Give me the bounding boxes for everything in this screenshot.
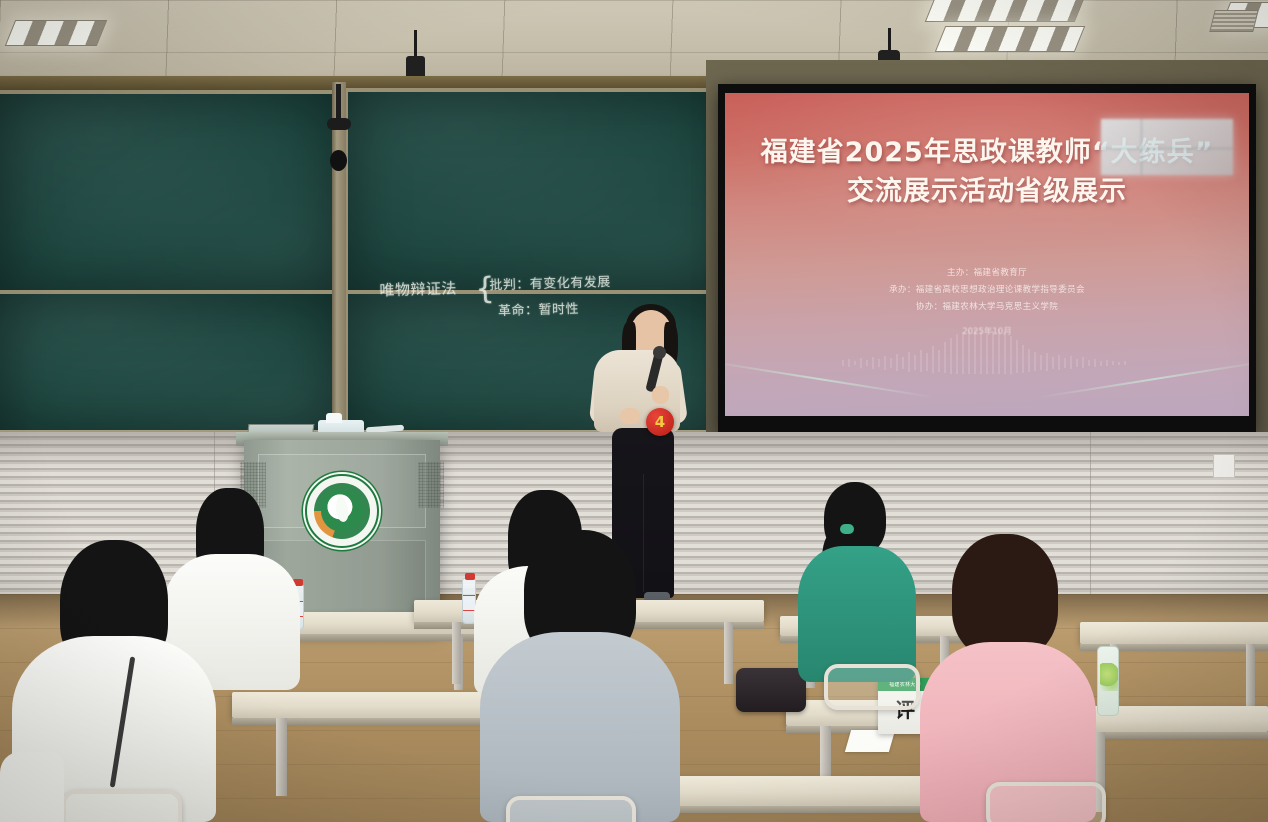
classroom-scene: 唯物辩证法 { 批判：有变化有发展 革命：暂时性 福建省2025年思政课教师“大… bbox=[0, 0, 1268, 822]
blackboard-panel-lower-left bbox=[0, 290, 340, 440]
person-hoodie bbox=[480, 632, 680, 822]
chalk-headline: 唯物辩证法 bbox=[379, 277, 457, 302]
university-emblem-icon bbox=[305, 474, 379, 548]
slide-credit-organizer: 主办：福建省教育厅 bbox=[725, 265, 1249, 282]
microphone-head bbox=[653, 346, 666, 359]
desk-row1-far-right bbox=[1080, 622, 1268, 644]
presenter-right-hand bbox=[652, 386, 669, 404]
chair[interactable] bbox=[62, 790, 182, 822]
hair-tie bbox=[840, 524, 854, 534]
chalk-note-1: 批判：有变化有发展 bbox=[489, 273, 611, 296]
presenter-number-badge: 4 bbox=[646, 408, 674, 436]
person-shirt bbox=[798, 546, 916, 682]
blackboard-panel-upper-right bbox=[344, 88, 728, 294]
blackboard-panel-upper-left bbox=[0, 90, 340, 294]
projection-screen-frame: 福建省2025年思政课教师“大练兵” 交流展示活动省级展示 主办：福建省教育厅 … bbox=[718, 84, 1256, 432]
speaker-grille-right bbox=[418, 462, 444, 508]
audience-student-edge bbox=[0, 752, 64, 822]
screen-window-reflection bbox=[1101, 119, 1233, 175]
desk-leg bbox=[724, 622, 733, 684]
chair[interactable] bbox=[986, 782, 1106, 822]
desk-leg bbox=[276, 718, 287, 796]
chalk-note-2: 革命：暂时性 bbox=[498, 300, 580, 322]
blackboard-writing: 唯物辩证法 { 批判：有变化有发展 革命：暂时性 bbox=[379, 273, 627, 346]
wall-seam bbox=[1090, 432, 1091, 620]
ceiling-light-fixture bbox=[5, 20, 108, 46]
ceiling-air-vent bbox=[1209, 10, 1258, 32]
light-switch[interactable] bbox=[1213, 454, 1235, 478]
chair[interactable] bbox=[824, 664, 920, 710]
slide-title-line-2: 交流展示活动省级展示 bbox=[725, 172, 1249, 211]
blackboard-center-divider bbox=[332, 82, 346, 442]
slide-credit-coorganizer: 协办：福建农林大学马克思主义学院 bbox=[725, 299, 1249, 316]
backpack bbox=[736, 668, 806, 712]
desk-leg bbox=[452, 622, 461, 684]
projection-screen: 福建省2025年思政课教师“大练兵” 交流展示活动省级展示 主办：福建省教育厅 … bbox=[725, 93, 1249, 416]
water-tumbler[interactable] bbox=[1097, 646, 1119, 716]
camera-arm bbox=[327, 118, 351, 130]
chair[interactable] bbox=[506, 796, 636, 822]
ceiling-light-fixture bbox=[935, 26, 1086, 52]
presenter-left-hand bbox=[620, 408, 640, 424]
slide-credit-host: 承办：福建省高校思想政治理论课教学指导委员会 bbox=[725, 282, 1249, 299]
ceiling-light-fixture bbox=[925, 0, 1086, 22]
person-hair bbox=[952, 534, 1058, 658]
slide-credits: 主办：福建省教育厅 承办：福建省高校思想政治理论课教学指导委员会 协办：福建农林… bbox=[725, 265, 1249, 316]
camera-lens-icon bbox=[330, 150, 347, 171]
desk-leg bbox=[1246, 644, 1255, 706]
camera-pole bbox=[336, 84, 341, 122]
waveform-decoration bbox=[837, 326, 1137, 376]
